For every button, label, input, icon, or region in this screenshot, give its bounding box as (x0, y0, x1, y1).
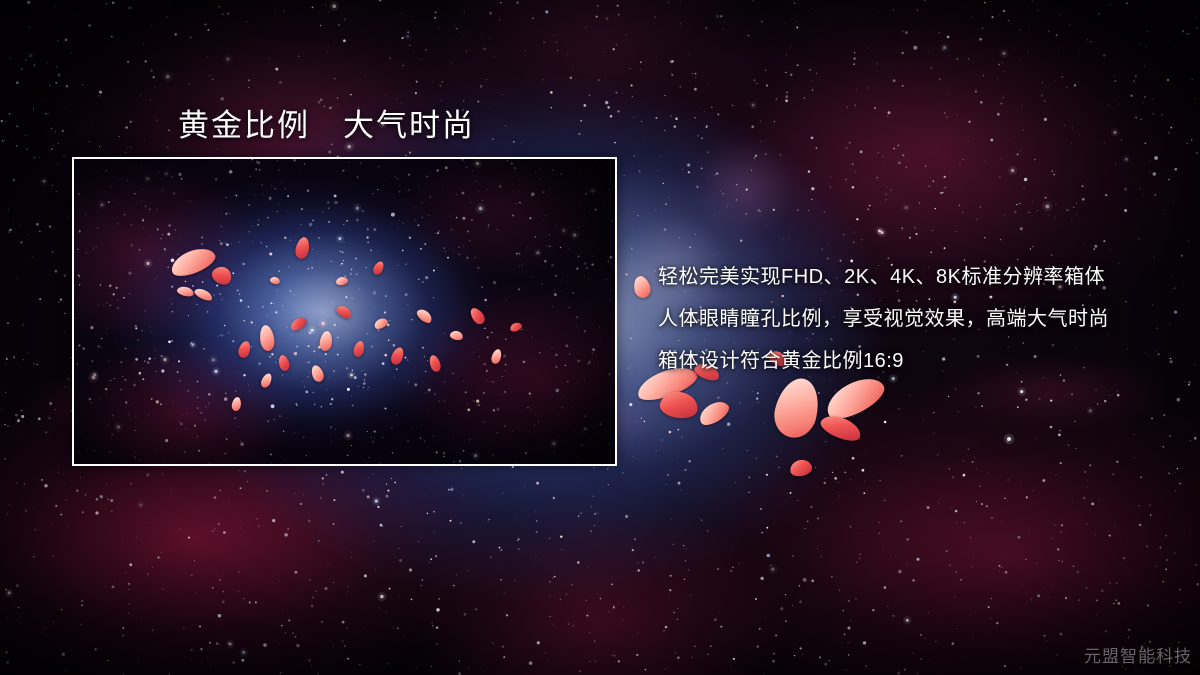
body-line: 轻松完美实现FHD、2K、4K、8K标准分辨率箱体 (658, 256, 1178, 298)
body-text-block: 轻松完美实现FHD、2K、4K、8K标准分辨率箱体 人体眼睛瞳孔比例，享受视觉效… (658, 256, 1178, 382)
presentation-slide: 黄金比例 大气时尚 轻松完美实现FHD、2K、4K、8K标准分辨率箱体 人体眼睛… (0, 0, 1200, 675)
framed-nebula-image (72, 157, 617, 466)
body-line: 人体眼睛瞳孔比例，享受视觉效果，高端大气时尚 (658, 298, 1178, 340)
body-line: 箱体设计符合黄金比例16:9 (658, 340, 1178, 382)
page-title: 黄金比例 大气时尚 (178, 100, 475, 145)
watermark: 元盟智能科技 (1084, 642, 1192, 667)
